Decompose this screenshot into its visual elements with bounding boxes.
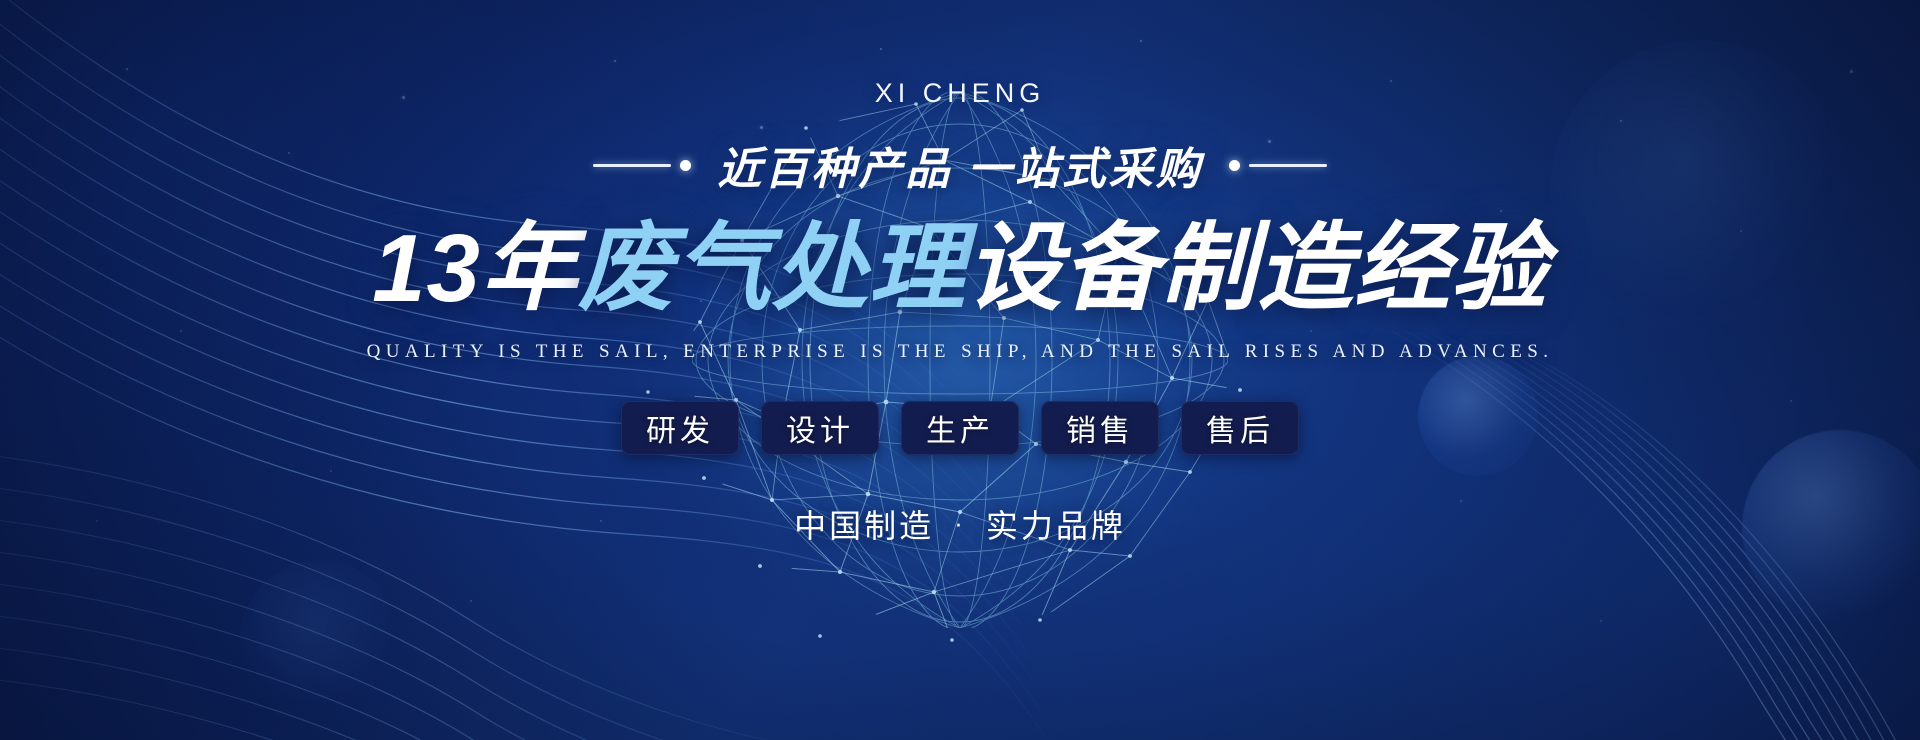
headline-part-2: 设备制造经验 [966, 215, 1548, 322]
headline-part-1: 13年 [372, 215, 578, 322]
footer-slogan: 中国制造 · 实力品牌 [794, 501, 1126, 547]
service-pill-aftersales[interactable]: 售后 [1181, 401, 1299, 455]
service-pill-sales[interactable]: 销售 [1041, 401, 1159, 455]
decorative-bar-left [593, 164, 671, 167]
footer-separator-dot: · [954, 508, 966, 539]
footer-slogan-right: 实力品牌 [986, 501, 1126, 547]
decorative-bar-right [1249, 164, 1327, 167]
brand-name-english: XI CHENG [875, 78, 1046, 109]
subtitle-row: 近百种产品 一站式采购 [593, 133, 1326, 197]
banner-content: XI CHENG 近百种产品 一站式采购 13年废气处理设备制造经验 QUALI… [0, 0, 1920, 740]
service-pill-production[interactable]: 生产 [901, 401, 1019, 455]
headline-accent: 废气处理 [578, 215, 966, 322]
decorative-dot-left [680, 160, 691, 171]
headline: 13年废气处理设备制造经验 [372, 215, 1548, 323]
footer-slogan-left: 中国制造 [794, 501, 934, 547]
decorative-line-left [593, 160, 691, 171]
subtitle-text: 近百种产品 一站式采购 [717, 133, 1202, 197]
hero-banner: XI CHENG 近百种产品 一站式采购 13年废气处理设备制造经验 QUALI… [0, 0, 1920, 740]
service-pill-list: 研发 设计 生产 销售 售后 [621, 401, 1299, 455]
decorative-dot-right [1229, 160, 1240, 171]
service-pill-design[interactable]: 设计 [761, 401, 879, 455]
decorative-line-right [1229, 160, 1327, 171]
service-pill-rd[interactable]: 研发 [621, 401, 739, 455]
english-tagline: QUALITY IS THE SAIL, ENTERPRISE IS THE S… [367, 341, 1554, 363]
